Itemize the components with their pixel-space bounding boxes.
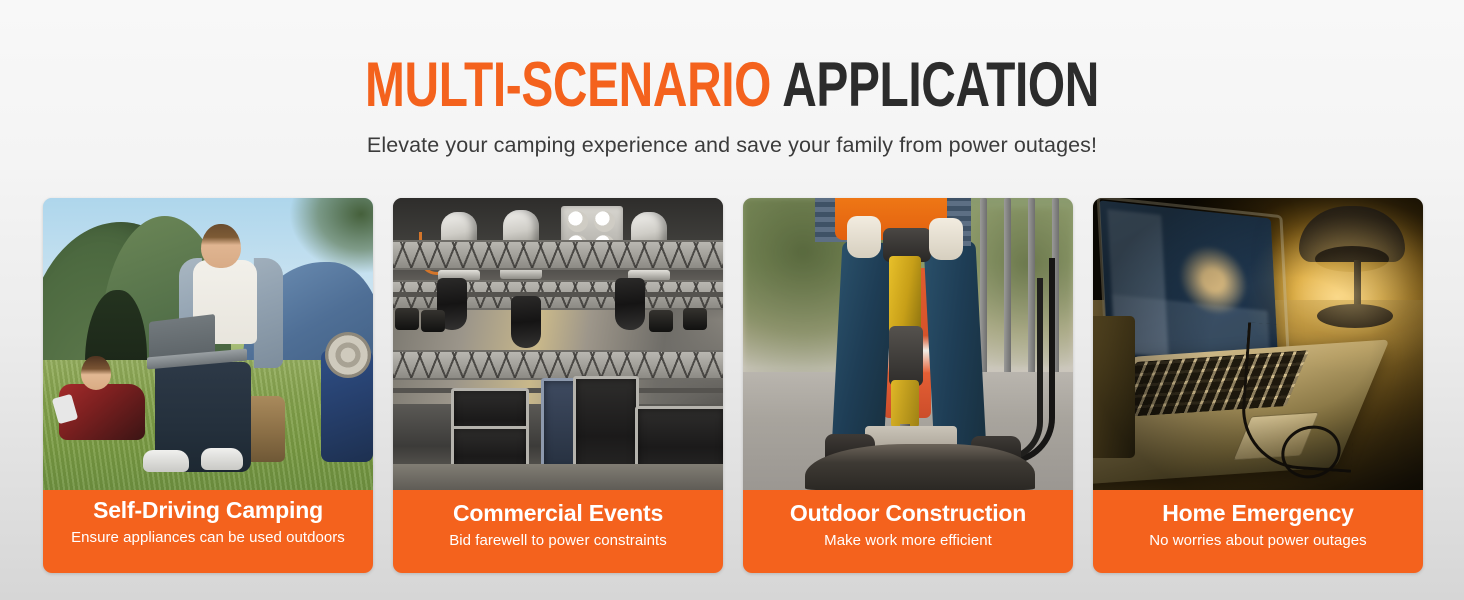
card-title: Self-Driving Camping	[43, 496, 373, 525]
page-subtitle: Elevate your camping experience and save…	[0, 118, 1464, 159]
heading-block: MULTI-SCENARIO APPLICATION Elevate your …	[0, 52, 1464, 159]
scenario-card-self-driving-camping[interactable]: Self-Driving Camping Ensure appliances c…	[43, 198, 373, 573]
card-caption: Self-Driving Camping Ensure appliances c…	[43, 490, 373, 573]
home-emergency-photo	[1093, 198, 1423, 490]
scenario-card-list: Self-Driving Camping Ensure appliances c…	[43, 198, 1421, 573]
page-title-rest: APPLICATION	[771, 50, 1099, 120]
card-subtitle: Make work more efficient	[743, 528, 1073, 550]
card-caption: Outdoor Construction Make work more effi…	[743, 490, 1073, 573]
page-title-accent: MULTI-SCENARIO	[365, 50, 771, 120]
scenario-card-outdoor-construction[interactable]: Outdoor Construction Make work more effi…	[743, 198, 1073, 573]
card-subtitle: Bid farewell to power constraints	[393, 528, 723, 550]
outdoor-construction-photo	[743, 198, 1073, 490]
camping-photo	[43, 198, 373, 490]
page-title: MULTI-SCENARIO APPLICATION	[176, 52, 1289, 118]
card-title: Outdoor Construction	[743, 499, 1073, 528]
card-title: Commercial Events	[393, 499, 723, 528]
commercial-events-photo	[393, 198, 723, 490]
card-caption: Home Emergency No worries about power ou…	[1093, 490, 1423, 573]
scenario-card-home-emergency[interactable]: Home Emergency No worries about power ou…	[1093, 198, 1423, 573]
card-subtitle: No worries about power outages	[1093, 528, 1423, 550]
card-caption: Commercial Events Bid farewell to power …	[393, 490, 723, 573]
card-title: Home Emergency	[1093, 499, 1423, 528]
scenario-card-commercial-events[interactable]: Commercial Events Bid farewell to power …	[393, 198, 723, 573]
multi-scenario-application-banner: MULTI-SCENARIO APPLICATION Elevate your …	[0, 0, 1464, 600]
card-subtitle: Ensure appliances can be used outdoors	[43, 525, 373, 547]
